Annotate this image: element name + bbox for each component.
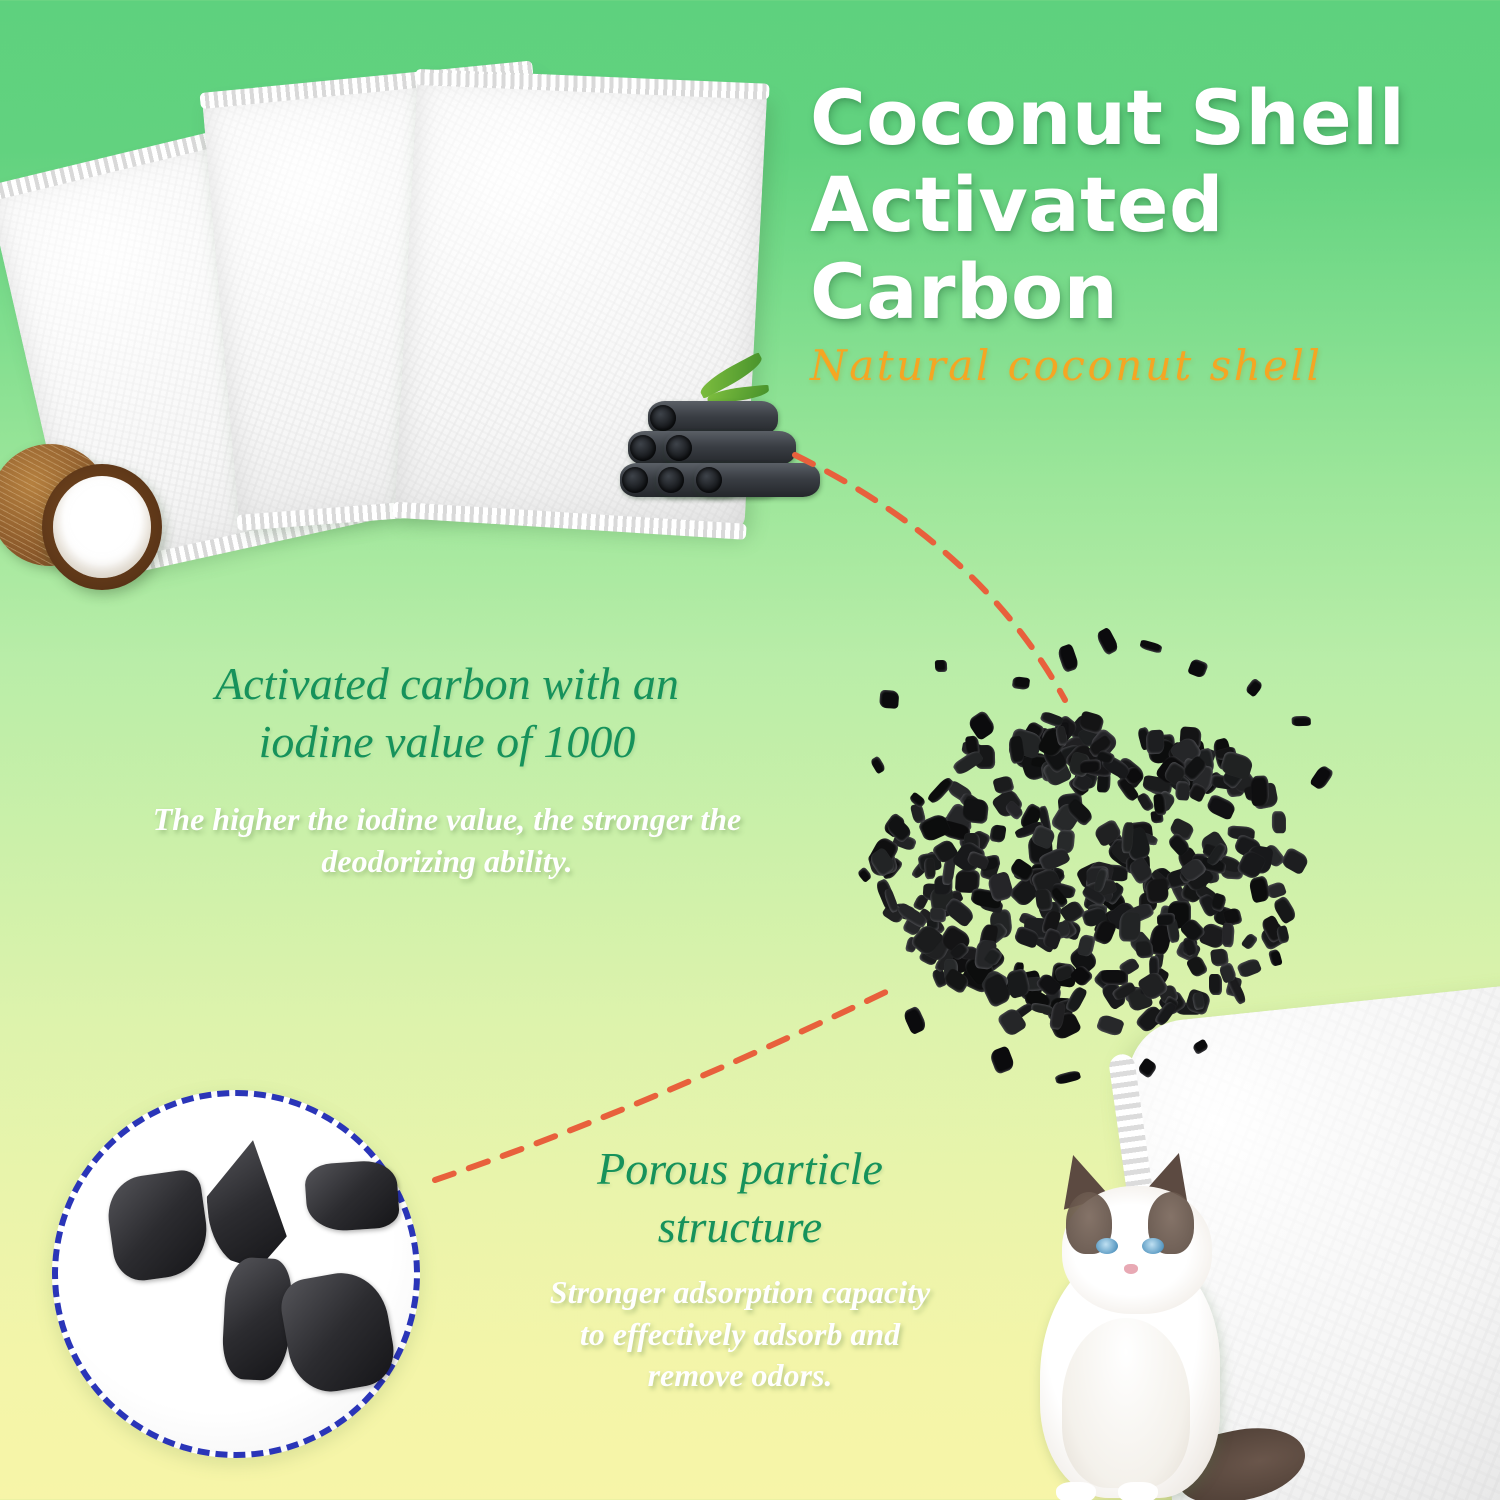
carbon-granule bbox=[1205, 793, 1237, 821]
carbon-granule bbox=[870, 756, 887, 775]
carbon-granule bbox=[1153, 794, 1167, 816]
carbon-granule bbox=[1236, 958, 1262, 980]
carbon-granule bbox=[1175, 780, 1190, 800]
carbon-granule bbox=[988, 1045, 1016, 1075]
carbon-granule bbox=[879, 689, 899, 709]
carbon-granule bbox=[1210, 948, 1229, 967]
carbon-granule bbox=[1192, 1039, 1210, 1056]
feature-heading-line-1: Activated carbon with an bbox=[42, 655, 852, 713]
charcoal-tube bbox=[648, 401, 778, 435]
carbon-granule bbox=[1187, 658, 1208, 679]
carbon-granule bbox=[1268, 949, 1283, 967]
carbon-granule bbox=[989, 824, 1007, 844]
carbon-granule bbox=[1012, 676, 1030, 690]
carbon-granule bbox=[1309, 763, 1334, 791]
feature-porous-structure: Porous particle structure Stronger adsor… bbox=[450, 1140, 1030, 1397]
carbon-granule bbox=[1056, 643, 1080, 673]
carbon-granule bbox=[1221, 923, 1234, 948]
tube-bore bbox=[658, 467, 684, 493]
coconut-image bbox=[0, 438, 165, 603]
carbon-granule bbox=[1054, 1069, 1081, 1086]
carbon-granule bbox=[902, 1005, 928, 1035]
coconut-flesh bbox=[53, 476, 151, 578]
porous-particle bbox=[304, 1159, 401, 1233]
carbon-granule bbox=[1136, 791, 1155, 812]
feature-subtext-line-3: remove odors. bbox=[450, 1355, 1030, 1397]
carbon-granule bbox=[935, 660, 947, 672]
feature-subtext-line-1: Stronger adsorption capacity bbox=[450, 1272, 1030, 1314]
carbon-granule bbox=[1209, 974, 1222, 995]
title-subtitle: Natural coconut shell bbox=[810, 341, 1490, 390]
title-line-1: Coconut Shell bbox=[810, 82, 1490, 155]
charcoal-tube bbox=[694, 463, 820, 497]
tube-bore bbox=[650, 405, 676, 431]
carbon-granule bbox=[857, 867, 873, 883]
tube-bore bbox=[696, 467, 722, 493]
charcoal-tubes-image bbox=[620, 385, 830, 525]
feature-heading-line-2: iodine value of 1000 bbox=[42, 713, 852, 771]
porous-particle bbox=[277, 1266, 400, 1398]
carbon-granule bbox=[1095, 627, 1120, 656]
tube-bore bbox=[630, 435, 656, 461]
carbon-granule bbox=[1145, 878, 1169, 904]
carbon-granule bbox=[1272, 811, 1286, 833]
feature-heading: Porous particle structure bbox=[450, 1140, 1030, 1256]
page-title: Coconut Shell Activated Carbon Natural c… bbox=[810, 82, 1490, 390]
carbon-granule bbox=[1139, 639, 1162, 653]
porous-particle bbox=[200, 1136, 297, 1272]
feature-subtext: The higher the iodine value, the stronge… bbox=[42, 799, 852, 882]
carbon-granule bbox=[1137, 1057, 1158, 1078]
porous-particle-inset bbox=[52, 1090, 420, 1458]
tube-bore bbox=[666, 435, 692, 461]
carbon-granule bbox=[1064, 985, 1088, 1014]
ragdoll-cat-image bbox=[1000, 1130, 1300, 1500]
cat-eye-right bbox=[1142, 1238, 1164, 1254]
carbon-granule bbox=[1250, 776, 1269, 807]
title-line-3: Carbon bbox=[810, 256, 1490, 329]
cat-nose bbox=[1124, 1264, 1138, 1274]
carbon-granule bbox=[929, 908, 946, 923]
feature-subtext-line-1: The higher the iodine value, the stronge… bbox=[42, 799, 852, 841]
carbon-granule bbox=[962, 798, 990, 824]
carbon-granule bbox=[1248, 875, 1271, 904]
carbon-granule bbox=[952, 749, 985, 777]
title-line-2: Activated bbox=[810, 169, 1490, 242]
cat-paw-left bbox=[1056, 1482, 1096, 1500]
feature-heading-line-1: Porous particle bbox=[450, 1140, 1030, 1198]
infographic-canvas: Coconut Shell Activated Carbon Natural c… bbox=[0, 0, 1500, 1500]
carbon-granule bbox=[1096, 1014, 1125, 1038]
feature-heading-line-2: structure bbox=[450, 1198, 1030, 1256]
carbon-granule bbox=[1080, 759, 1101, 773]
carbon-granule bbox=[1101, 970, 1127, 985]
carbon-granule bbox=[1241, 932, 1259, 951]
activated-carbon-granules bbox=[840, 620, 1340, 1090]
carbon-granule bbox=[1135, 940, 1154, 959]
carbon-granule bbox=[1157, 912, 1176, 925]
porous-particle bbox=[103, 1168, 213, 1284]
feature-heading: Activated carbon with an iodine value of… bbox=[42, 655, 852, 771]
carbon-granule bbox=[1119, 911, 1141, 941]
feature-subtext-line-2: deodorizing ability. bbox=[42, 841, 852, 883]
carbon-granule bbox=[1145, 730, 1164, 755]
carbon-granule bbox=[1280, 846, 1311, 875]
tube-bore bbox=[622, 467, 648, 493]
carbon-granule bbox=[1292, 716, 1311, 727]
coconut-half bbox=[42, 464, 162, 590]
feature-subtext-line-2: to effectively adsorb and bbox=[450, 1314, 1030, 1356]
charcoal-tube bbox=[664, 431, 796, 465]
cat-eye-left bbox=[1096, 1238, 1118, 1254]
cat-paw-right bbox=[1118, 1482, 1158, 1500]
feature-subtext: Stronger adsorption capacity to effectiv… bbox=[450, 1272, 1030, 1397]
feature-iodine-value: Activated carbon with an iodine value of… bbox=[42, 655, 852, 882]
carbon-granule bbox=[1244, 678, 1263, 698]
cat-chest bbox=[1062, 1318, 1190, 1488]
